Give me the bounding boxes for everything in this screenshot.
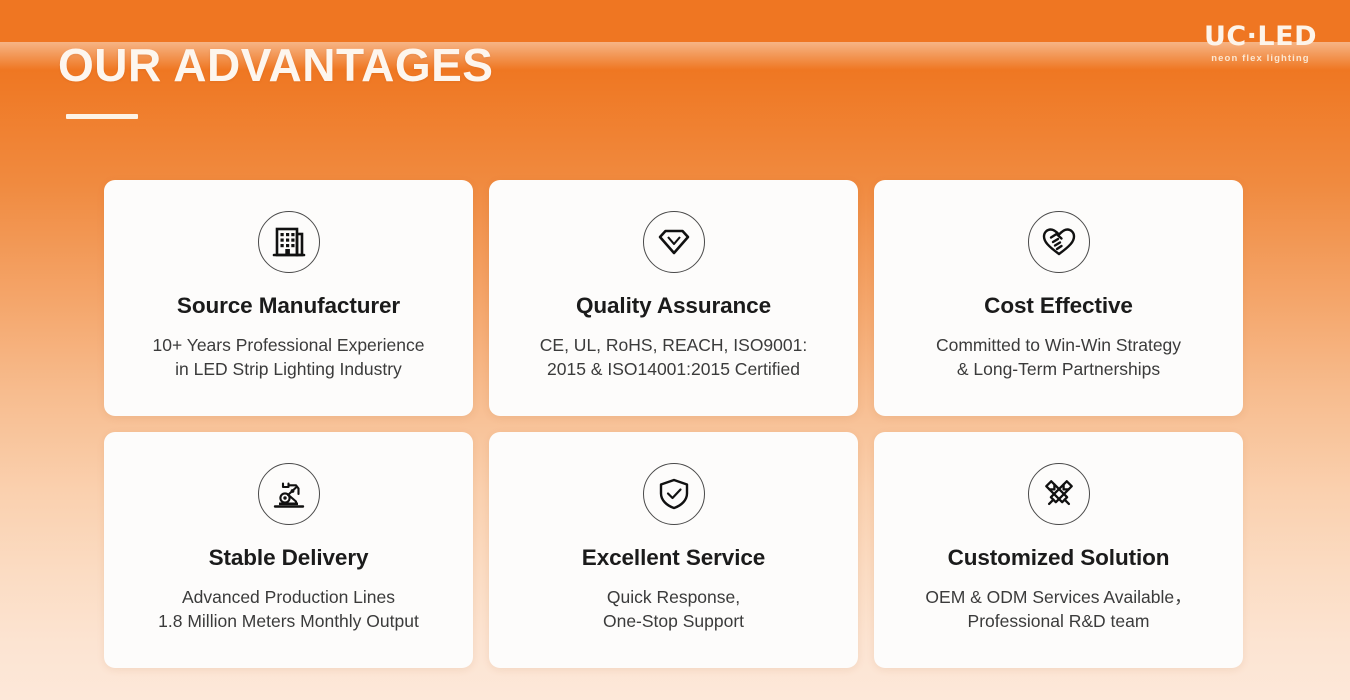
card-description: CE, UL, RoHS, REACH, ISO9001: 2015 & ISO… — [526, 333, 821, 381]
brand-logo: UC·LED neon flex lighting — [1204, 23, 1317, 64]
advantage-card: Customized Solution OEM & ODM Services A… — [874, 432, 1243, 668]
advantage-card: Quality Assurance CE, UL, RoHS, REACH, I… — [489, 180, 858, 416]
logo-wordmark: UC·LED — [1204, 23, 1317, 50]
advantages-grid: Source Manufacturer 10+ Years Profession… — [104, 180, 1244, 668]
robot-arm-icon — [258, 463, 320, 525]
card-description: Quick Response, One-Stop Support — [589, 585, 758, 633]
title-underline-accent — [66, 114, 138, 119]
advantage-card: Cost Effective Committed to Win-Win Stra… — [874, 180, 1243, 416]
page-title: OUR ADVANTAGES — [58, 42, 494, 88]
card-title: Quality Assurance — [576, 294, 771, 319]
card-title: Cost Effective — [984, 294, 1133, 319]
card-description: OEM & ODM Services Available， Profession… — [911, 585, 1205, 633]
advantage-card: Excellent Service Quick Response, One-St… — [489, 432, 858, 668]
card-title: Stable Delivery — [209, 546, 369, 571]
diamond-icon — [643, 211, 705, 273]
handshake-heart-icon — [1028, 211, 1090, 273]
advantage-card: Stable Delivery Advanced Production Line… — [104, 432, 473, 668]
card-title: Source Manufacturer — [177, 294, 400, 319]
advantage-card: Source Manufacturer 10+ Years Profession… — [104, 180, 473, 416]
card-description: Advanced Production Lines 1.8 Million Me… — [144, 585, 433, 633]
card-description: Committed to Win-Win Strategy & Long-Ter… — [922, 333, 1195, 381]
page-header: OUR ADVANTAGES UC·LED neon flex lighting — [0, 0, 1350, 170]
card-title: Customized Solution — [948, 546, 1170, 571]
card-title: Excellent Service — [582, 546, 765, 571]
card-description: 10+ Years Professional Experience in LED… — [139, 333, 439, 381]
building-icon — [258, 211, 320, 273]
crossed-pencils-icon — [1028, 463, 1090, 525]
shield-check-icon — [643, 463, 705, 525]
logo-tagline: neon flex lighting — [1204, 54, 1317, 64]
